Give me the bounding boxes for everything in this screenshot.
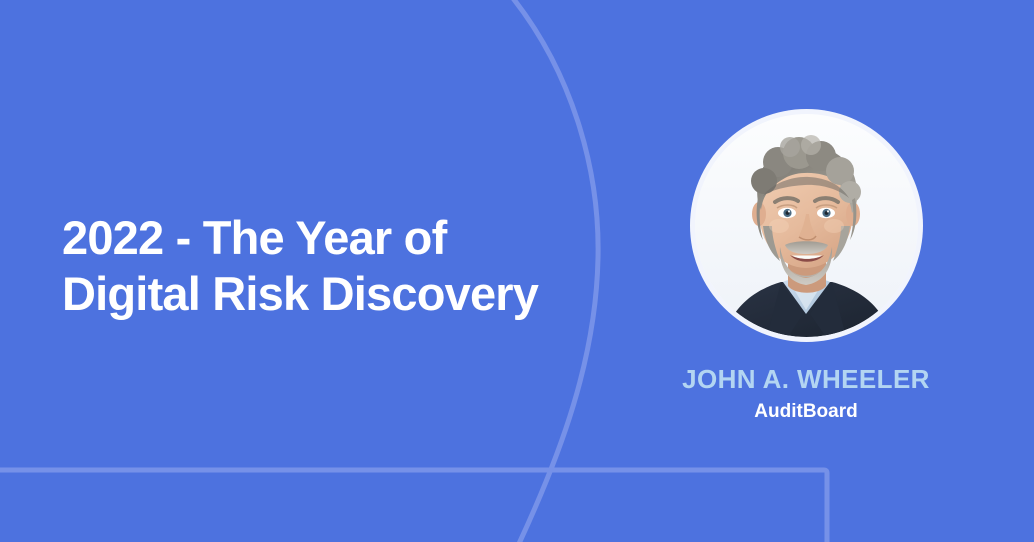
title-line-2: Digital Risk Discovery — [62, 266, 532, 322]
corner-frame-lines — [0, 470, 827, 542]
avatar — [695, 114, 918, 337]
speaker-organization: AuditBoard — [646, 401, 966, 423]
presentation-title-slide: 2022 - The Year of Digital Risk Discover… — [0, 0, 1034, 542]
title-line-1: 2022 - The Year of — [62, 210, 532, 266]
page-title: 2022 - The Year of Digital Risk Discover… — [62, 210, 532, 322]
speaker-block: JOHN A. WHEELER AuditBoard — [646, 114, 966, 423]
speaker-name: JOHN A. WHEELER — [646, 364, 966, 394]
speaker-headshot — [695, 114, 918, 337]
